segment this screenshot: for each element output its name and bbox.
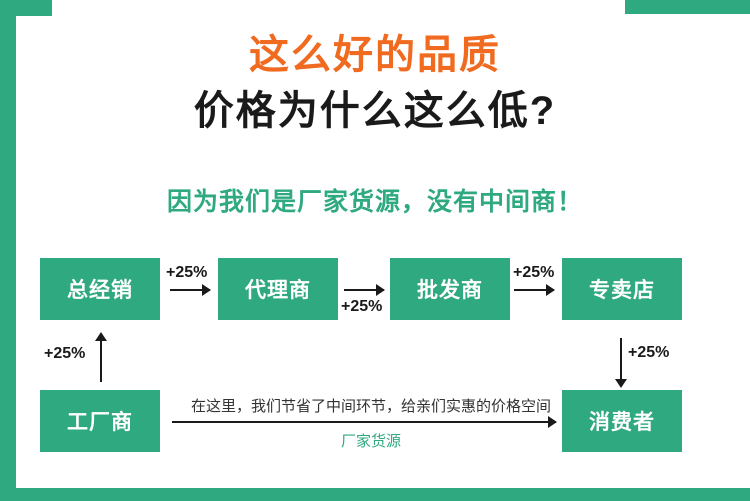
flow-node-label: 代理商: [245, 274, 311, 304]
arrow-right-icon: [344, 289, 384, 291]
flow-node-general-distributor: 总经销: [40, 258, 160, 320]
arrow-down-icon: [620, 338, 622, 380]
markup-label-1: +25%: [166, 264, 207, 282]
decorative-bar-bottom: [0, 488, 750, 501]
flow-node-wholesaler: 批发商: [390, 258, 510, 320]
arrow-up-icon: [100, 340, 102, 382]
arrow-right-icon: [514, 289, 554, 291]
flow-node-label: 专卖店: [589, 274, 655, 304]
headline-line-1: 这么好的品质: [0, 32, 750, 79]
headline-block: 这么好的品质 价格为什么这么低?: [0, 32, 750, 136]
flow-node-label: 总经销: [67, 274, 133, 304]
arrow-right-long-icon: [172, 421, 556, 423]
decorative-bar-top-right: [625, 0, 750, 14]
flow-node-label: 工厂商: [67, 406, 133, 436]
flow-node-consumer: 消费者: [562, 390, 682, 452]
flow-node-factory: 工厂商: [40, 390, 160, 452]
markup-label-5: +25%: [628, 344, 669, 362]
decorative-bar-top-left: [0, 0, 52, 16]
supply-chain-diagram: 总经销 代理商 批发商 专卖店 工厂商 消费者 +25% +25% +25% +…: [0, 250, 750, 475]
flow-node-agent: 代理商: [218, 258, 338, 320]
markup-label-2: +25%: [341, 298, 382, 316]
subheadline: 因为我们是厂家货源，没有中间商！: [0, 182, 750, 218]
markup-label-3: +25%: [513, 264, 554, 282]
markup-label-4: +25%: [44, 345, 85, 363]
flow-node-specialty-store: 专卖店: [562, 258, 682, 320]
flow-node-label: 批发商: [417, 274, 483, 304]
headline-line-2: 价格为什么这么低?: [0, 87, 750, 136]
factory-source-note: 厂家货源: [186, 430, 556, 451]
flow-node-label: 消费者: [589, 406, 655, 436]
savings-note: 在这里，我们节省了中间环节，给亲们实惠的价格空间: [186, 395, 556, 416]
arrow-right-icon: [170, 289, 210, 291]
